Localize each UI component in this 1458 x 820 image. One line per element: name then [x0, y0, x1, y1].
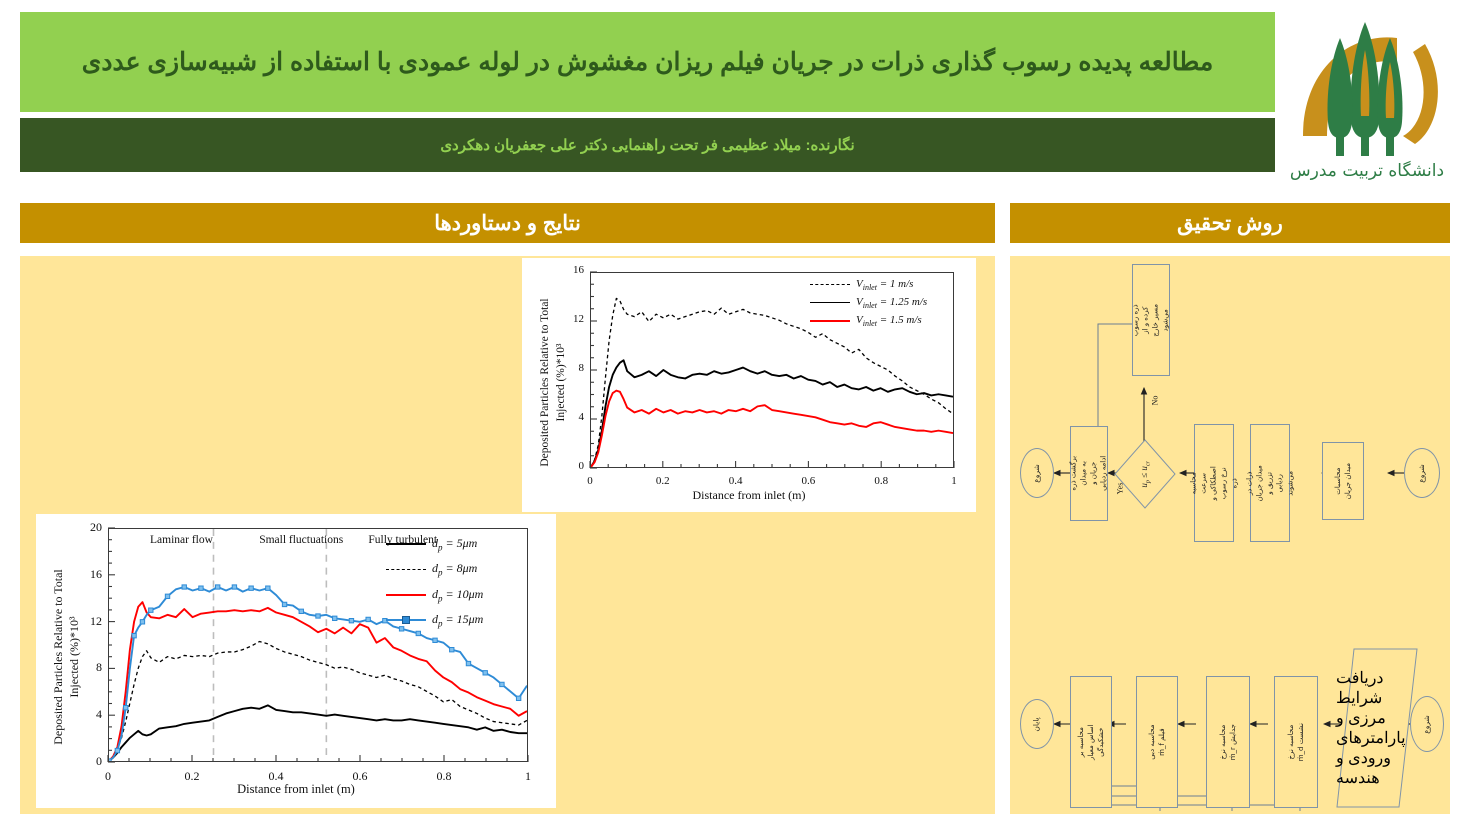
legend-swatch-dashed-black [386, 564, 426, 576]
tick-label: 0 [568, 475, 612, 487]
chart2-legend-item: dp = 8μm [386, 561, 483, 577]
flow-node-top-entry[interactable]: شروع [1404, 448, 1440, 498]
chart2-legend-item: dp = 10μm [386, 587, 483, 603]
chart1-legend: Vinlet = 1 m/s Vinlet = 1.25 m/s [810, 278, 927, 333]
tick-label: 12 [66, 614, 102, 629]
tick-label: 8 [548, 362, 584, 374]
chart-inlet-velocity-card: Deposited Particles Relative to Total In… [522, 258, 976, 512]
flow-node-flowfield-calculation[interactable]: محاسبات میدان جریان [1322, 442, 1364, 520]
flow2-node-entrainment-rate[interactable]: محاسبه نرخ جدایش ṁ_r [1206, 676, 1250, 808]
flow2-node-film-flowrate[interactable]: محاسبه دبی فیلم ṁ_f [1136, 676, 1178, 808]
region-annotation: Laminar flow [150, 534, 213, 546]
flow-node-particle-deposited[interactable]: ذره رسوب کرده و از مسیر خارج می‌شود [1132, 264, 1170, 376]
chart2-legend: dp = 5μm dp = 8μm dp [386, 536, 483, 633]
legend-swatch-marker-blue [386, 614, 426, 626]
tick-label: 0.2 [641, 475, 685, 487]
chart2-legend-label-3: dp = 15μm [432, 612, 483, 628]
chart1-legend-item: Vinlet = 1 m/s [810, 278, 927, 292]
tick-label: 0.6 [786, 475, 830, 487]
flow-node-start[interactable]: شروع [1020, 448, 1054, 498]
section-header-method: روش تحقیق [1010, 203, 1450, 243]
tick-label: 16 [66, 567, 102, 582]
legend-swatch-solid-red [386, 589, 426, 601]
page-title: مطالعه پدیده رسوب گذاری ذرات در جریان فی… [82, 47, 1213, 78]
tick-label: 4 [66, 707, 102, 722]
tarbiat-modares-logo-icon: دانشگاه تربیت مدرس [1285, 4, 1450, 184]
chart1-x-axis-label: Distance from inlet (m) [522, 488, 976, 503]
logo-caption: دانشگاه تربیت مدرس [1290, 160, 1444, 181]
flow-node-calc-deposition-rate[interactable]: محاسبه سرعت اصطکاکی و نرخ رسوب ذره [1194, 424, 1234, 542]
chart1-legend-label-0: Vinlet = 1 m/s [856, 278, 913, 292]
chart1-legend-item: Vinlet = 1.5 m/s [810, 314, 927, 328]
section-header-method-label: روش تحقیق [1177, 211, 1283, 236]
poster-author-banner: نگارنده: میلاد عظیمی فر تحت راهنمایی دکت… [20, 118, 1275, 172]
tick-label: 16 [548, 264, 584, 276]
tick-label: 4 [548, 411, 584, 423]
flow-edge-label-no: No [1150, 396, 1159, 406]
legend-swatch-solid-black [386, 538, 426, 550]
legend-swatch-solid-black [810, 297, 850, 309]
tick-label: 8 [66, 660, 102, 675]
chart2-legend-label-2: dp = 10μm [432, 587, 483, 603]
tick-label: 1 [932, 475, 976, 487]
flow-edge-label-yes: Yes [1115, 483, 1124, 495]
flow2-node-deposition-rate[interactable]: محاسبه نرخ نشست ṁ_d [1274, 676, 1318, 808]
author-line: نگارنده: میلاد عظیمی فر تحت راهنمایی دکت… [440, 136, 854, 154]
chart2-legend-label-0: dp = 5μm [432, 536, 477, 552]
chart2-legend-item: dp = 15μm [386, 612, 483, 628]
results-panel: Deposited Particles Relative to Total In… [20, 256, 995, 814]
legend-swatch-solid-red [810, 315, 850, 327]
poster-header: مطالعه پدیده رسوب گذاری ذرات در جریان فی… [0, 0, 1458, 186]
tick-label: 0.8 [859, 475, 903, 487]
university-logo: دانشگاه تربیت مدرس [1285, 4, 1450, 184]
tick-label: 0 [548, 460, 584, 472]
chart1-legend-label-1: Vinlet = 1.25 m/s [856, 296, 927, 310]
flow-node-decision-label: up ≤ ucr [1139, 461, 1152, 487]
tick-label: 12 [548, 313, 584, 325]
tick-label: 0 [66, 754, 102, 769]
tick-label: 0.4 [714, 475, 758, 487]
flow2-node-end[interactable]: پایان [1020, 699, 1054, 749]
flow-node-rebound[interactable]: برگشت ذره به میدان جریان و ادامه ردیابی [1070, 426, 1108, 521]
section-header-results-label: نتایج و دستاوردها [434, 211, 581, 236]
chart2-x-axis-label: Distance from inlet (m) [36, 782, 556, 797]
tick-label: 20 [66, 520, 102, 535]
chart-particle-diameter-card: Deposited Particles Relative to Total In… [36, 514, 556, 808]
flow-node-decision[interactable]: up ≤ ucr [1114, 439, 1176, 509]
chart2-legend-item: dp = 5μm [386, 536, 483, 552]
chart2-legend-label-1: dp = 8μm [432, 561, 477, 577]
poster-title-banner: مطالعه پدیده رسوب گذاری ذرات در جریان فی… [20, 12, 1275, 112]
section-header-results: نتایج و دستاوردها [20, 203, 995, 243]
chart1-legend-label-2: Vinlet = 1.5 m/s [856, 314, 922, 328]
legend-swatch-dashed-black [810, 279, 850, 291]
chart1-legend-item: Vinlet = 1.25 m/s [810, 296, 927, 310]
flow-node-inject-particles[interactable]: ذرات در میدان جریان تزریق و ردیابی می‌شو… [1250, 424, 1290, 542]
region-annotation: Small fluctuations [259, 534, 343, 546]
flow2-node-input-parameters[interactable]: دریافت شرایط مرزی و پارامترهای ورودی و ه… [1336, 648, 1418, 808]
flow2-node-dryout-criterion[interactable]: محاسبه بر اساس معیار خشکیدگی [1070, 676, 1112, 808]
flow2-node-start[interactable]: شروع [1410, 696, 1444, 752]
method-panel: شروع برگشت ذره به میدان جریان و ادامه رد… [1010, 256, 1450, 814]
